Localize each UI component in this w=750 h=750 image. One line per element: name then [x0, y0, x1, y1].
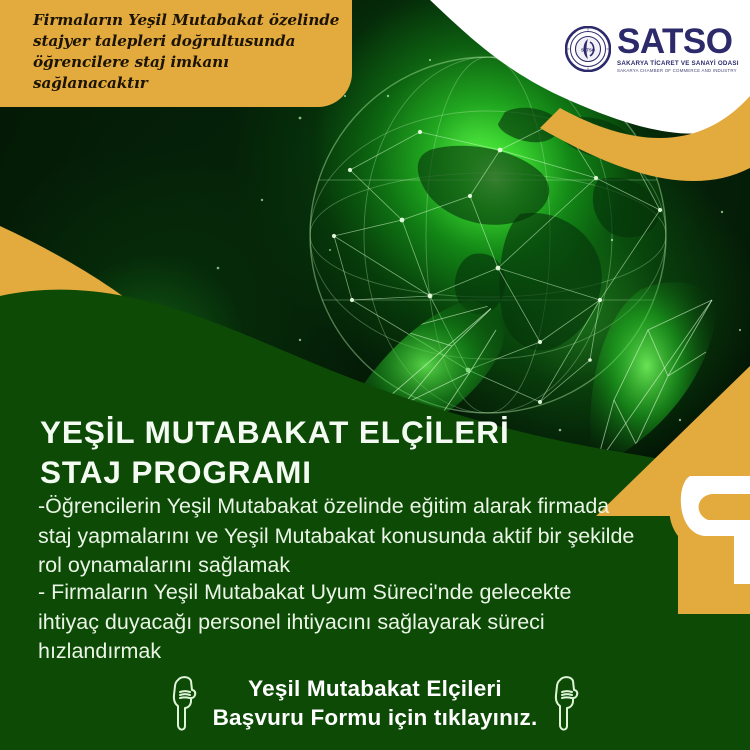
pointing-down-hand-icon: [551, 674, 581, 732]
objective-paragraph-1: -Öğrencilerin Yeşil Mutabakat özelinde e…: [38, 492, 638, 581]
gold-slab-notch: [671, 476, 750, 586]
page-title-line-2: STAJ PROGRAMI: [40, 452, 680, 492]
satso-wordmark-block: SATSO SAKARYA TİCARET VE SANAYİ ODASI SA…: [617, 24, 739, 73]
objective-paragraph-2: - Firmaların Yeşil Mutabakat Uyum Süreci…: [38, 578, 638, 667]
satso-seal-icon: SATSO: [565, 26, 611, 72]
cta-text-block[interactable]: Yeşil Mutabakat Elçileri Başvuru Formu i…: [213, 674, 538, 732]
banner-line-1: Firmaların Yeşil Mutabakat özelinde: [33, 10, 343, 31]
application-form-cta[interactable]: Yeşil Mutabakat Elçileri Başvuru Formu i…: [0, 672, 750, 734]
satso-subtitle-en: SAKARYA CHAMBER OF COMMERCE AND INDUSTRY: [617, 69, 739, 73]
top-gold-banner: Firmaların Yeşil Mutabakat özelinde staj…: [0, 0, 352, 107]
banner-line-4: sağlanacaktır: [33, 73, 343, 94]
pointing-down-hand-icon: [169, 674, 199, 732]
banner-line-3: öğrencilere staj imkanı: [33, 52, 343, 73]
page-title: YEŞİL MUTABAKAT ELÇİLERİ STAJ PROGRAMI: [40, 412, 680, 492]
satso-wordmark: SATSO: [617, 24, 739, 59]
page-title-line-1: YEŞİL MUTABAKAT ELÇİLERİ: [40, 412, 680, 452]
satso-logo[interactable]: SATSO SATSO SAKARYA TİCARET VE SANAYİ OD…: [565, 24, 739, 73]
cta-line-1: Yeşil Mutabakat Elçileri: [213, 674, 538, 703]
satso-subtitle-tr: SAKARYA TİCARET VE SANAYİ ODASI: [617, 61, 739, 67]
banner-line-2: stajyer talepleri doğrultusunda: [33, 31, 343, 52]
gold-block-notch: [681, 476, 750, 584]
svg-text:SATSO: SATSO: [581, 47, 596, 52]
right-gold-block: [670, 468, 750, 614]
poster-canvas: Firmaların Yeşil Mutabakat özelinde staj…: [0, 0, 750, 750]
banner-text-block: Firmaların Yeşil Mutabakat özelinde staj…: [33, 10, 343, 94]
cta-line-2: Başvuru Formu için tıklayınız.: [213, 703, 538, 732]
